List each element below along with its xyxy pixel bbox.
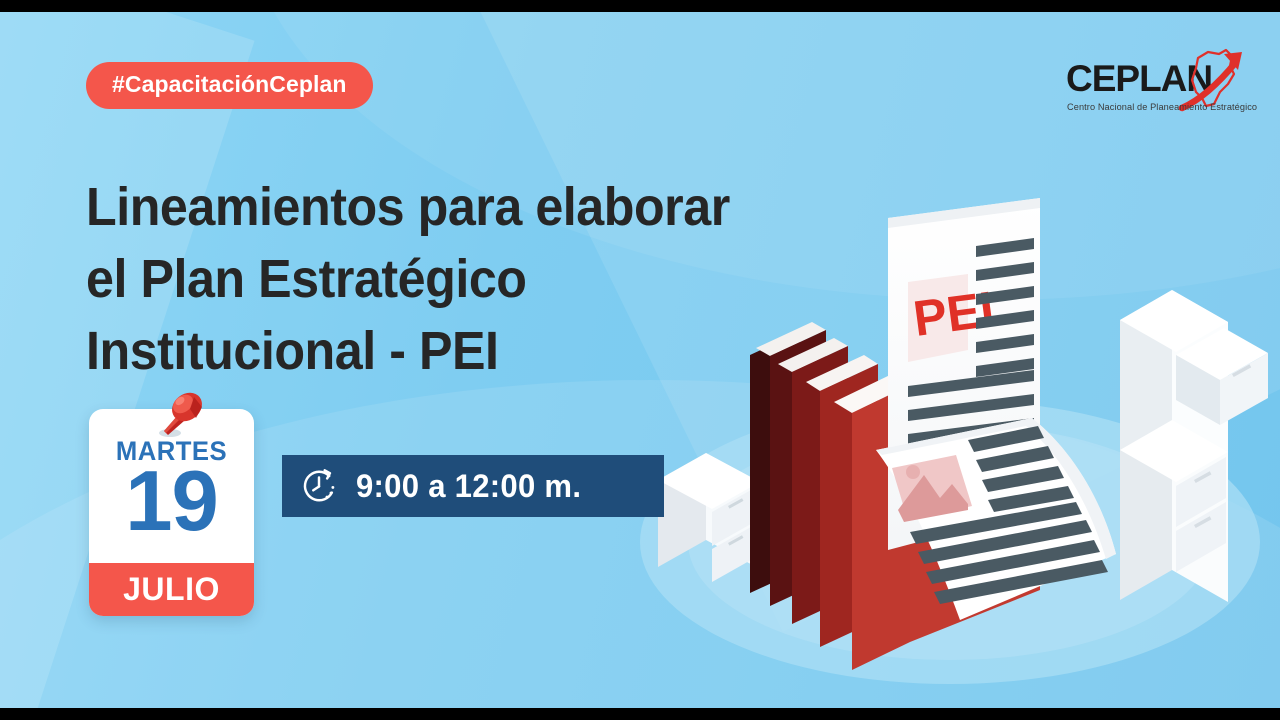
- poster-canvas: PEI: [0, 0, 1280, 720]
- schedule-time: 9:00 a 12:00 m.: [356, 468, 581, 505]
- letterbox-bar-bottom: [0, 708, 1280, 720]
- letterbox-bar-top: [0, 0, 1280, 12]
- page-title-line-3: Institucional - PEI: [86, 316, 756, 388]
- pei-label: PEI: [910, 281, 997, 347]
- ceplan-tagline: Centro Nacional de Planeamiento Estratég…: [1067, 102, 1257, 112]
- page-title-line-2: el Plan Estratégico: [86, 244, 756, 316]
- ceplan-logo: CEPLAN Centro Nacional de Planeamiento E…: [1060, 52, 1250, 126]
- page-title-line-1: Lineamientos para elaborar: [86, 172, 756, 244]
- calendar-day: 19: [89, 459, 254, 544]
- hashtag-badge: #CapacitaciónCeplan: [86, 62, 373, 109]
- schedule-badge: 9:00 a 12:00 m.: [282, 455, 664, 517]
- page-title: Lineamientos para elaborar el Plan Estra…: [86, 172, 756, 387]
- calendar-month-band: JULIO: [89, 563, 254, 616]
- clock-history-icon: [300, 467, 338, 505]
- calendar-month: JULIO: [123, 573, 220, 607]
- pushpin-icon: [150, 385, 206, 443]
